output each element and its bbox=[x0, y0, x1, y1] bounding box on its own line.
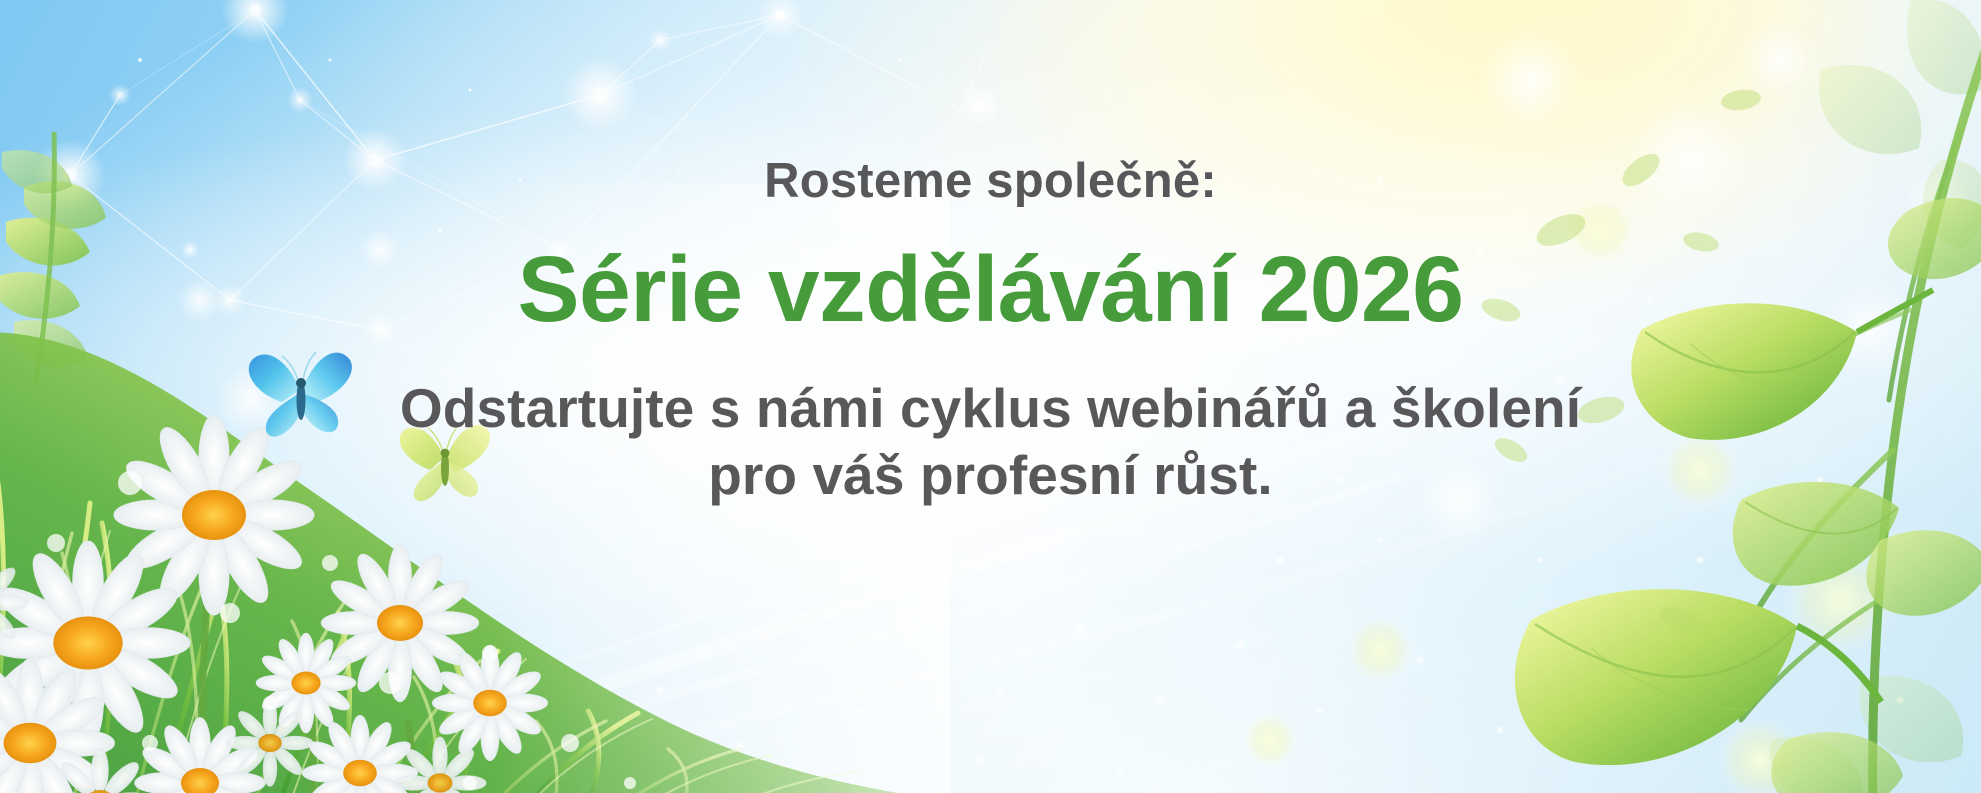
banner-eyebrow: Rosteme společně: bbox=[764, 155, 1217, 209]
banner-headline: Série vzdělávání 2026 bbox=[518, 241, 1464, 339]
banner-subheadline: Odstartujte s námi cyklus webinářů a ško… bbox=[400, 375, 1581, 509]
subheadline-line-2: pro váš profesní růst. bbox=[400, 442, 1581, 509]
banner-text-block: Rosteme společně: Série vzdělávání 2026 … bbox=[0, 0, 1981, 793]
subheadline-line-1: Odstartujte s námi cyklus webinářů a ško… bbox=[400, 377, 1581, 439]
promotional-banner: Rosteme společně: Série vzdělávání 2026 … bbox=[0, 0, 1981, 793]
